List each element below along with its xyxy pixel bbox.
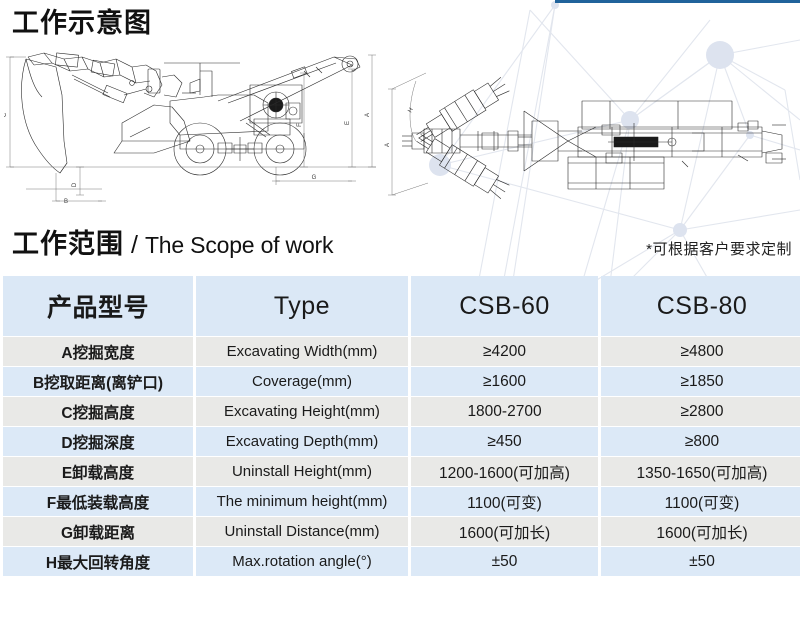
row-label-cn: B挖取距离(离铲口) [3, 367, 193, 396]
table-row: G卸载距离 Uninstall Distance(mm) 1600(可加长) 1… [3, 517, 800, 546]
customization-note: *可根据客户要求定制 [646, 238, 792, 259]
machine-side-view-drawing: C B D F E G A [4, 45, 380, 205]
dim-label-b: B [64, 199, 68, 205]
specification-table: 产品型号 Type CSB-60 CSB-80 A挖掘宽度 Excavating… [0, 275, 800, 577]
column-header-type: Type [196, 276, 408, 336]
row-value-csb80: ≥2800 [601, 397, 800, 426]
row-value-csb60: ≥4200 [411, 337, 598, 366]
row-value-csb60: 1100(可变) [411, 487, 598, 516]
row-label-cn: D挖掘深度 [3, 427, 193, 456]
row-label-en: The minimum height(mm) [196, 487, 408, 516]
dim-label-g: G [312, 175, 317, 181]
table-row: F最低装载高度 The minimum height(mm) 1100(可变) … [3, 487, 800, 516]
table-row: A挖掘宽度 Excavating Width(mm) ≥4200 ≥4800 [3, 337, 800, 366]
row-label-en: Max.rotation angle(°) [196, 547, 408, 576]
row-label-cn: H最大回转角度 [3, 547, 193, 576]
table-row: H最大回转角度 Max.rotation angle(°) ±50 ±50 [3, 547, 800, 576]
product-spec-page: 工作示意图 [0, 0, 800, 618]
row-value-csb80: ≥1850 [601, 367, 800, 396]
row-label-en: Uninstall Distance(mm) [196, 517, 408, 546]
row-label-cn: A挖掘宽度 [3, 337, 193, 366]
row-value-csb80: ≥800 [601, 427, 800, 456]
page-title: 工作示意图 [12, 6, 152, 40]
row-label-cn: G卸载距离 [3, 517, 193, 546]
dim-label-a: A [365, 113, 371, 117]
row-label-cn: E卸载高度 [3, 457, 193, 486]
row-label-cn: C挖掘高度 [3, 397, 193, 426]
table-row: E卸载高度 Uninstall Height(mm) 1200-1600(可加高… [3, 457, 800, 486]
row-value-csb60: 1800-2700 [411, 397, 598, 426]
row-label-en: Coverage(mm) [196, 367, 408, 396]
scope-title-separator: / [131, 231, 138, 260]
table-row: D挖掘深度 Excavating Depth(mm) ≥450 ≥800 [3, 427, 800, 456]
dim-label-a-top: A [385, 143, 391, 147]
row-value-csb80: 1350-1650(可加高) [601, 457, 800, 486]
row-label-en: Excavating Height(mm) [196, 397, 408, 426]
table-row: C挖掘高度 Excavating Height(mm) 1800-2700 ≥2… [3, 397, 800, 426]
dim-label-h: H [407, 107, 414, 114]
dim-label-e: E [345, 121, 351, 125]
row-value-csb60: ±50 [411, 547, 598, 576]
dim-label-d: D [72, 182, 78, 187]
row-value-csb80: ±50 [601, 547, 800, 576]
row-label-en: Excavating Depth(mm) [196, 427, 408, 456]
dim-label-c: C [4, 112, 8, 117]
row-value-csb60: 1600(可加长) [411, 517, 598, 546]
scope-title-en: The Scope of work [145, 232, 333, 259]
row-value-csb60: 1200-1600(可加高) [411, 457, 598, 486]
row-value-csb80: 1600(可加长) [601, 517, 800, 546]
row-label-cn: F最低装载高度 [3, 487, 193, 516]
table-row: B挖取距离(离铲口) Coverage(mm) ≥1600 ≥1850 [3, 367, 800, 396]
machine-top-view-drawing: A H [382, 45, 800, 205]
row-value-csb80: ≥4800 [601, 337, 800, 366]
row-value-csb80: 1100(可变) [601, 487, 800, 516]
table-header-row: 产品型号 Type CSB-60 CSB-80 [3, 276, 800, 336]
row-label-en: Excavating Width(mm) [196, 337, 408, 366]
row-label-en: Uninstall Height(mm) [196, 457, 408, 486]
column-header-model: 产品型号 [3, 276, 193, 336]
column-header-csb60: CSB-60 [411, 276, 598, 336]
column-header-csb80: CSB-80 [601, 276, 800, 336]
dim-label-f: F [297, 123, 303, 127]
row-value-csb60: ≥1600 [411, 367, 598, 396]
scope-title: 工作范围 / The Scope of work [12, 222, 333, 261]
top-accent-bar [555, 0, 800, 3]
row-value-csb60: ≥450 [411, 427, 598, 456]
scope-title-cn: 工作范围 [12, 222, 124, 261]
